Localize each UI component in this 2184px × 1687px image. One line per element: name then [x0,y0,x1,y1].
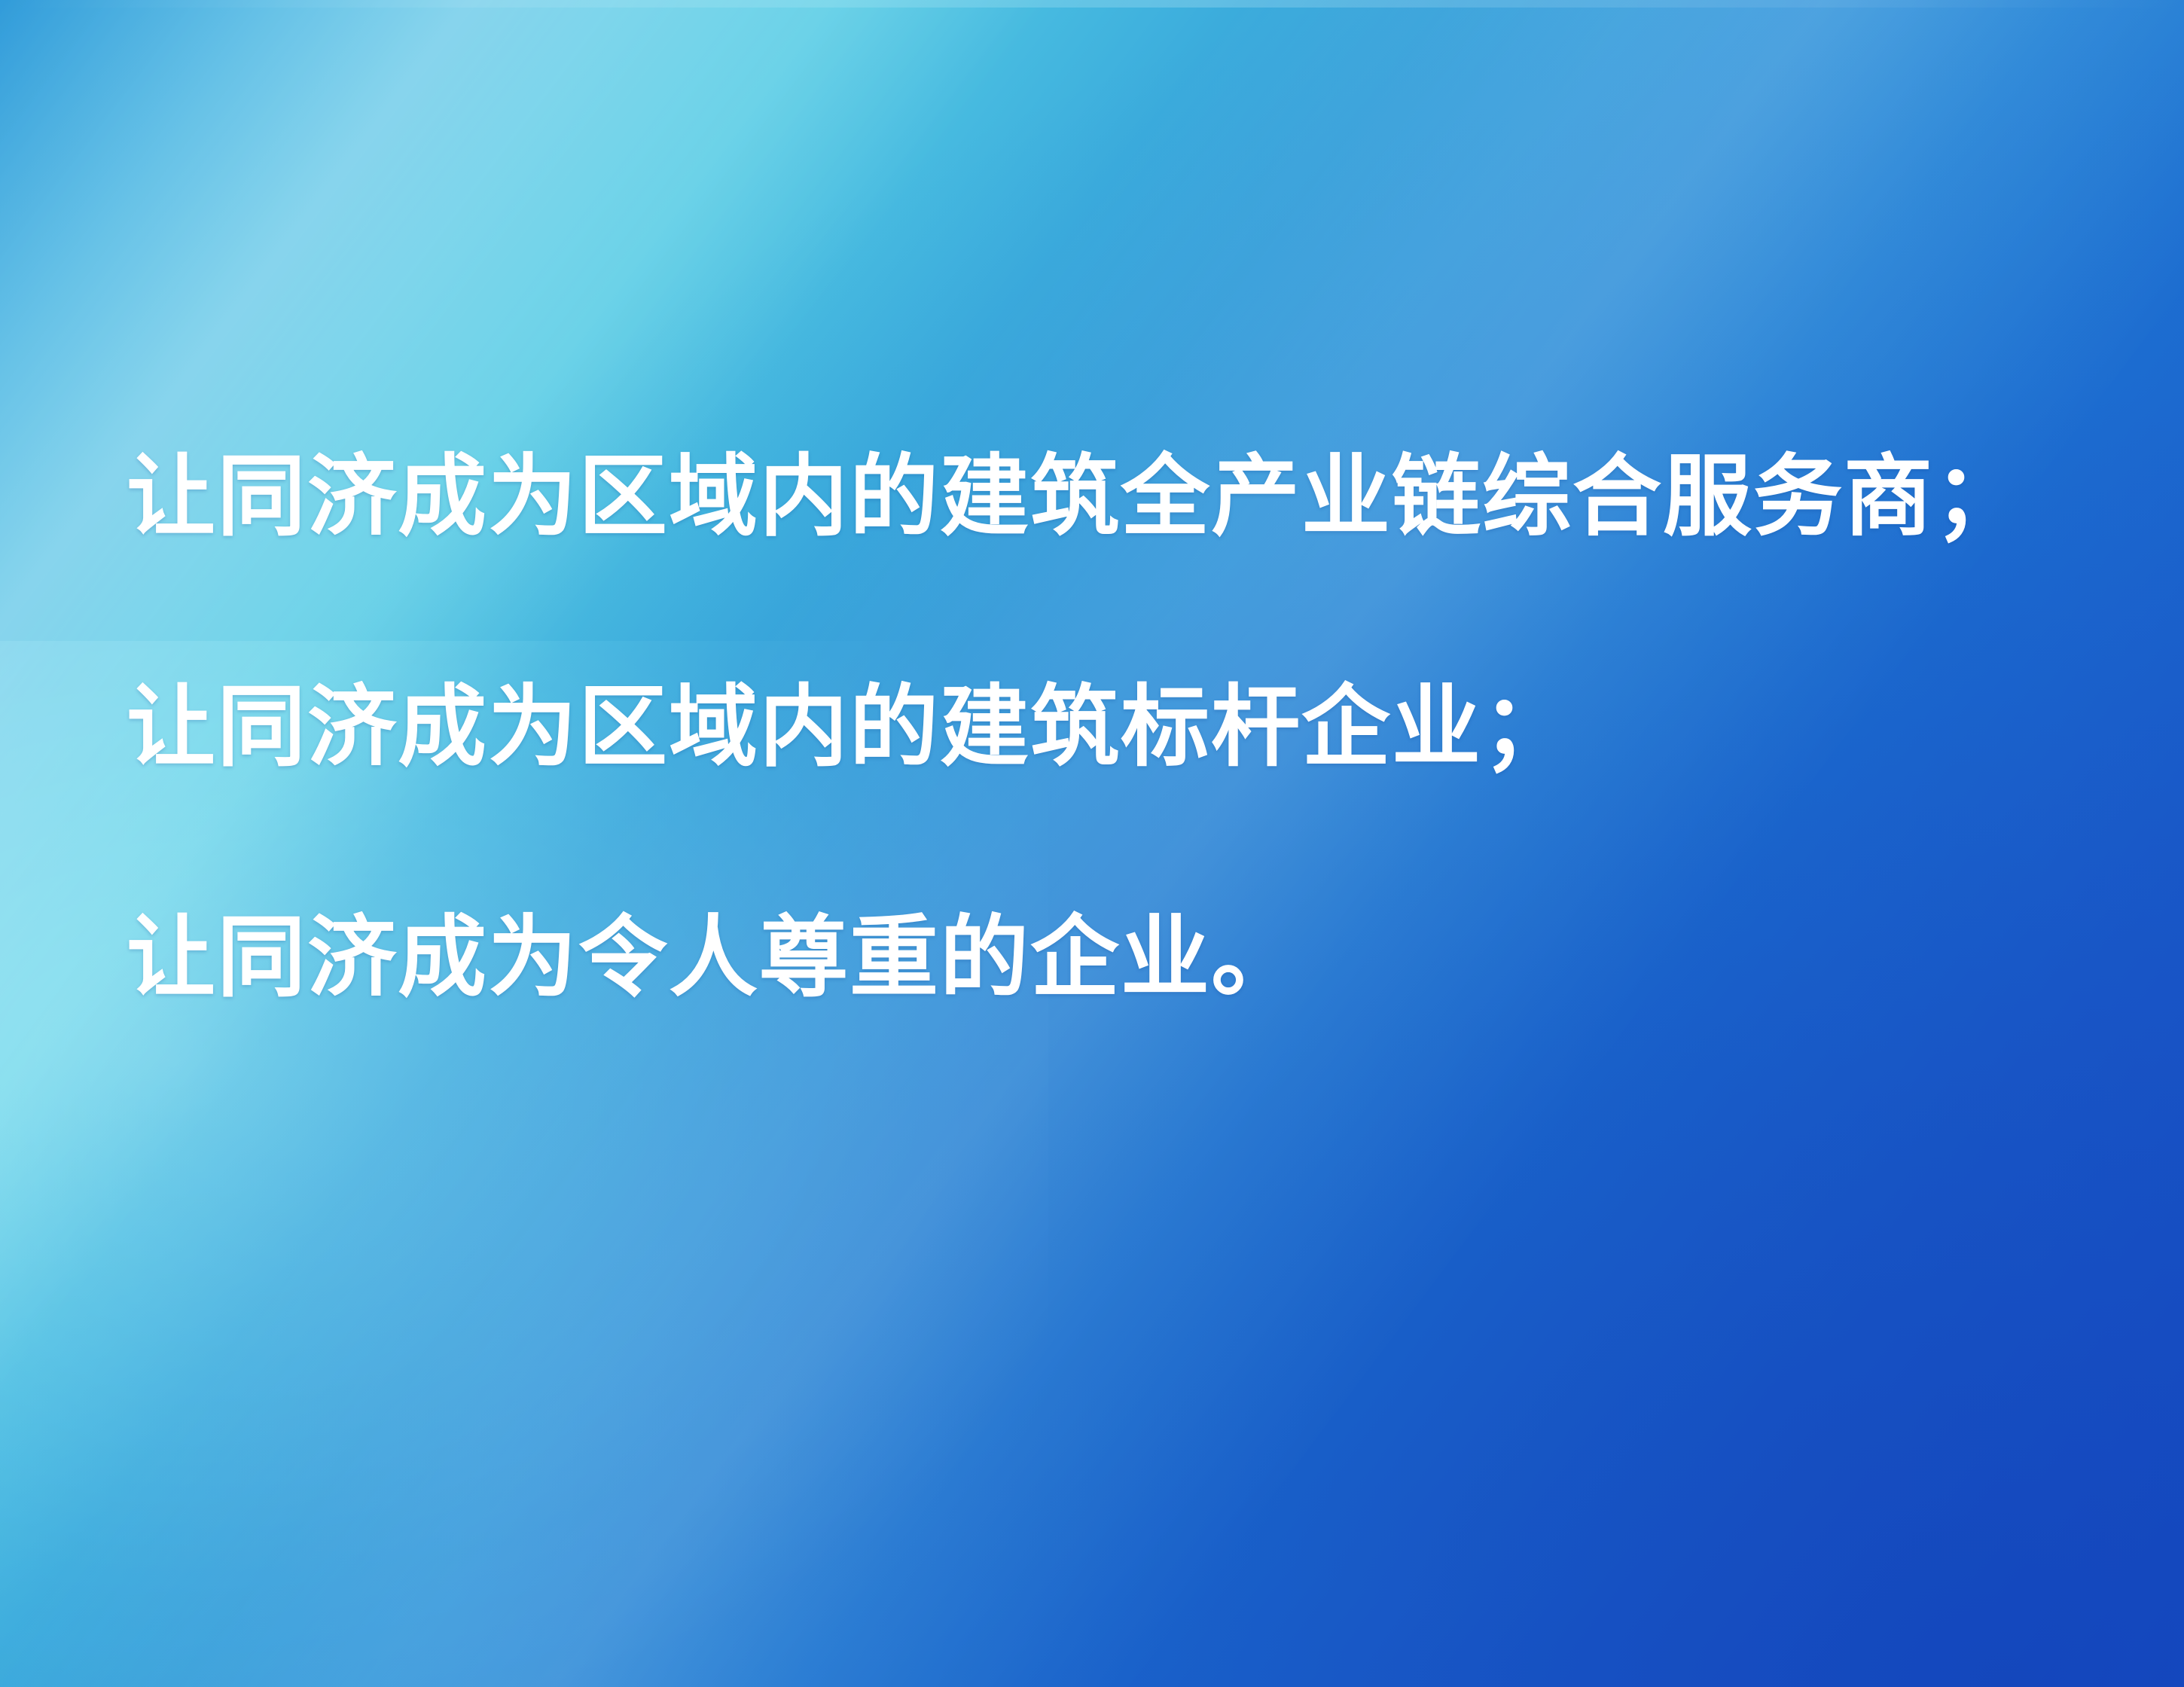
presentation-slide: 让同济成为区域内的建筑全产业链综合服务商； 让同济成为区域内的建筑标杆企业； 让… [0,0,2184,1687]
slide-text-line-3: 让同济成为令人尊重的企业。 [127,913,2085,1002]
slide-text-line-2: 让同济成为区域内的建筑标杆企业； [127,682,2085,771]
slide-text-block: 让同济成为区域内的建筑全产业链综合服务商； 让同济成为区域内的建筑标杆企业； 让… [127,452,2085,1002]
slide-text-line-1: 让同济成为区域内的建筑全产业链综合服务商； [127,452,2085,541]
